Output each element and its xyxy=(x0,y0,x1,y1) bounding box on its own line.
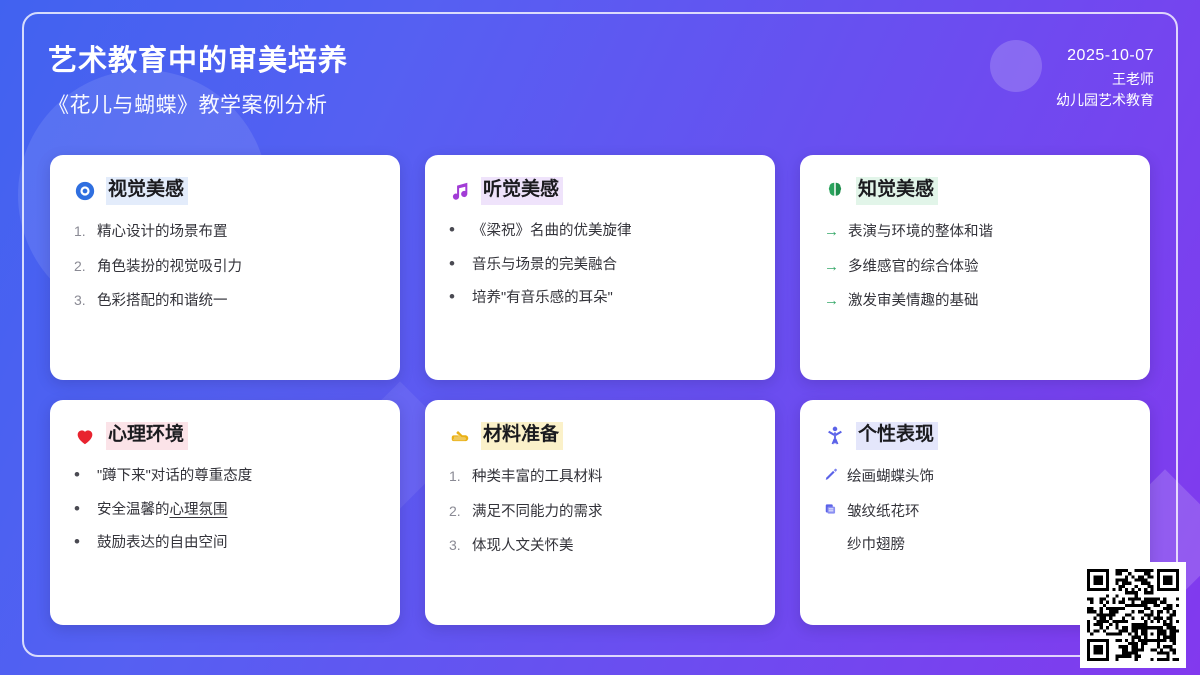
card-material-preparation[interactable]: 材料准备1.种类丰富的工具材料2.满足不同能力的需求3.体现人文关怀美 xyxy=(425,400,775,625)
list-item: 1.精心设计的场景布置 xyxy=(74,221,376,244)
list-item: •培养"有音乐感的耳朵" xyxy=(449,288,751,310)
list-marker: • xyxy=(449,221,463,238)
list-item-text: 体现人文关怀美 xyxy=(472,536,574,558)
card-perceptual-aesthetics[interactable]: 知觉美感→表演与环境的整体和谐→多维感官的综合体验→激发审美情趣的基础 xyxy=(800,155,1150,380)
pointing-hand-icon xyxy=(449,425,471,447)
page-title: 艺术教育中的审美培养 xyxy=(48,42,348,81)
title-block: 艺术教育中的审美培养 《花儿与蝴蝶》教学案例分析 xyxy=(48,42,348,119)
list-marker: → xyxy=(824,290,839,313)
list-item-text: 种类丰富的工具材料 xyxy=(472,467,603,489)
card-list: •"蹲下来"对话的尊重态度•安全温馨的心理氛围•鼓励表达的自由空间 xyxy=(74,466,376,555)
list-marker: 3. xyxy=(449,535,463,556)
list-item-text: 精心设计的场景布置 xyxy=(97,222,228,244)
list-marker: • xyxy=(449,255,463,272)
list-item-text: 安全温馨的心理氛围 xyxy=(97,500,228,522)
card-list: →表演与环境的整体和谐→多维感官的综合体验→激发审美情趣的基础 xyxy=(824,221,1126,313)
cards-grid: 视觉美感1.精心设计的场景布置2.角色装扮的视觉吸引力3.色彩搭配的和谐统一听觉… xyxy=(50,155,1150,625)
slide-header: 艺术教育中的审美培养 《花儿与蝴蝶》教学案例分析 2025-10-07 王老师 … xyxy=(0,0,1200,150)
list-item-text: 满足不同能力的需求 xyxy=(472,502,603,524)
list-item: 3.体现人文关怀美 xyxy=(449,535,751,558)
card-header: 听觉美感 xyxy=(449,177,751,205)
heart-icon xyxy=(74,425,96,447)
card-list: 绘画蝴蝶头饰皱纹纸花环纱巾翅膀 xyxy=(824,466,1126,557)
list-marker: → xyxy=(824,256,839,279)
pencil-icon xyxy=(824,466,838,487)
list-item-text: 角色装扮的视觉吸引力 xyxy=(97,257,242,279)
card-title: 视觉美感 xyxy=(106,177,188,205)
list-item: •安全温馨的心理氛围 xyxy=(74,500,376,522)
list-marker: 1. xyxy=(74,221,88,242)
header-meta: 2025-10-07 王老师 幼儿园艺术教育 xyxy=(1056,44,1154,112)
list-marker: 2. xyxy=(74,256,88,277)
list-item: →表演与环境的整体和谐 xyxy=(824,221,1126,244)
list-item: 1.种类丰富的工具材料 xyxy=(449,466,751,489)
list-item-text: 培养"有音乐感的耳朵" xyxy=(472,288,613,310)
list-marker: • xyxy=(74,466,88,483)
list-item: 皱纹纸花环 xyxy=(824,501,1126,524)
list-item-text: 表演与环境的整体和谐 xyxy=(848,222,993,244)
brain-icon xyxy=(824,180,846,202)
card-psychological-environment[interactable]: 心理环境•"蹲下来"对话的尊重态度•安全温馨的心理氛围•鼓励表达的自由空间 xyxy=(50,400,400,625)
card-title: 听觉美感 xyxy=(481,177,563,205)
list-item: 纱巾翅膀 xyxy=(824,535,1126,557)
meta-author: 王老师 xyxy=(1056,69,1154,91)
qr-code-canvas xyxy=(1087,569,1179,661)
card-header: 心理环境 xyxy=(74,422,376,450)
list-marker: 2. xyxy=(449,501,463,522)
card-header: 知觉美感 xyxy=(824,177,1126,205)
card-visual-aesthetics[interactable]: 视觉美感1.精心设计的场景布置2.角色装扮的视觉吸引力3.色彩搭配的和谐统一 xyxy=(50,155,400,380)
list-item: 2.角色装扮的视觉吸引力 xyxy=(74,256,376,279)
slide-canvas: 艺术教育中的审美培养 《花儿与蝴蝶》教学案例分析 2025-10-07 王老师 … xyxy=(0,0,1200,675)
list-item-text: 鼓励表达的自由空间 xyxy=(97,533,228,555)
list-item-text: 纱巾翅膀 xyxy=(847,535,905,557)
list-item: •《梁祝》名曲的优美旋律 xyxy=(449,221,751,243)
list-item-text: 《梁祝》名曲的优美旋律 xyxy=(472,221,632,243)
list-item: 2.满足不同能力的需求 xyxy=(449,501,751,524)
card-title: 心理环境 xyxy=(106,422,188,450)
card-header: 个性表现 xyxy=(824,422,1126,450)
page-subtitle: 《花儿与蝴蝶》教学案例分析 xyxy=(48,89,348,119)
list-marker: • xyxy=(74,533,88,550)
list-item-text: 激发审美情趣的基础 xyxy=(848,291,979,313)
list-item-text: "蹲下来"对话的尊重态度 xyxy=(97,466,252,488)
list-marker: • xyxy=(449,288,463,305)
list-item: 绘画蝴蝶头饰 xyxy=(824,466,1126,489)
list-item-text: 色彩搭配的和谐统一 xyxy=(97,291,228,313)
qr-code[interactable] xyxy=(1080,562,1186,668)
list-item-text: 音乐与场景的完美融合 xyxy=(472,255,617,277)
card-auditory-aesthetics[interactable]: 听觉美感•《梁祝》名曲的优美旋律•音乐与场景的完美融合•培养"有音乐感的耳朵" xyxy=(425,155,775,380)
list-item: 3.色彩搭配的和谐统一 xyxy=(74,290,376,313)
list-item-text: 多维感官的综合体验 xyxy=(848,257,979,279)
list-item: →多维感官的综合体验 xyxy=(824,256,1126,279)
meta-org: 幼儿园艺术教育 xyxy=(1056,90,1154,112)
card-header: 视觉美感 xyxy=(74,177,376,205)
list-item: •音乐与场景的完美融合 xyxy=(449,255,751,277)
list-marker: 3. xyxy=(74,290,88,311)
card-title: 知觉美感 xyxy=(856,177,938,205)
card-header: 材料准备 xyxy=(449,422,751,450)
list-marker: • xyxy=(74,500,88,517)
emphasis-underline: 心理氛围 xyxy=(170,502,228,518)
card-list: •《梁祝》名曲的优美旋律•音乐与场景的完美融合•培养"有音乐感的耳朵" xyxy=(449,221,751,310)
meta-date: 2025-10-07 xyxy=(1056,44,1154,69)
list-item-text: 皱纹纸花环 xyxy=(847,502,920,524)
person-raising-hands-icon xyxy=(824,425,846,447)
card-title: 个性表现 xyxy=(856,422,938,450)
list-marker: → xyxy=(824,221,839,244)
list-item: •"蹲下来"对话的尊重态度 xyxy=(74,466,376,488)
music-note-icon xyxy=(449,180,471,202)
list-item-text: 绘画蝴蝶头饰 xyxy=(847,467,934,489)
card-list: 1.种类丰富的工具材料2.满足不同能力的需求3.体现人文关怀美 xyxy=(449,466,751,558)
eye-icon xyxy=(74,180,96,202)
list-item: →激发审美情趣的基础 xyxy=(824,290,1126,313)
list-item: •鼓励表达的自由空间 xyxy=(74,533,376,555)
card-list: 1.精心设计的场景布置2.角色装扮的视觉吸引力3.色彩搭配的和谐统一 xyxy=(74,221,376,313)
list-marker: 1. xyxy=(449,466,463,487)
card-title: 材料准备 xyxy=(481,422,563,450)
paper-roll-icon xyxy=(824,501,838,522)
